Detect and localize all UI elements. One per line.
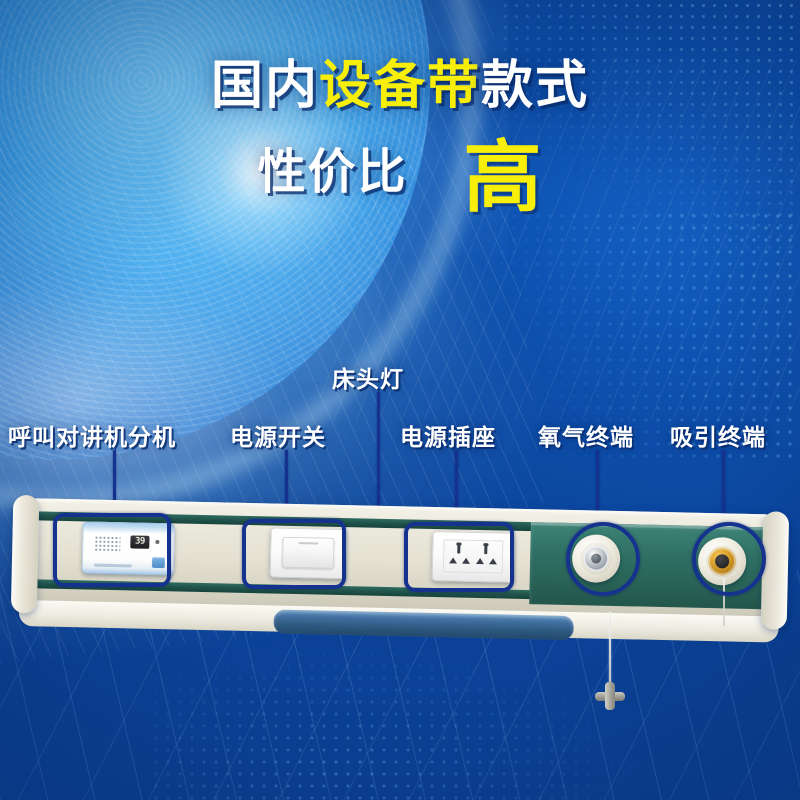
callout-label-power-switch: 电源开关	[230, 418, 326, 452]
speaker-grille-icon	[94, 536, 120, 553]
panel-rotated-group: 39	[19, 498, 781, 637]
socket-slot-icon	[457, 545, 460, 554]
intercom-call-button[interactable]	[152, 557, 165, 568]
dual-universal-socket[interactable]	[432, 531, 515, 583]
cord-weight-bar-vertical	[605, 682, 615, 710]
socket-faceplate	[443, 539, 504, 573]
callout-label-oxygen-terminal: 氧气终端	[538, 418, 634, 452]
callout-label-suction-terminal: 吸引终端	[670, 418, 766, 452]
socket-outlet-left[interactable]	[447, 542, 473, 570]
callout-layer: 床头灯 呼叫对讲机分机 电源开关 电源插座 氧气终端 吸引终端	[0, 0, 800, 800]
panel-end-cap-right	[761, 511, 790, 630]
socket-outlet-right[interactable]	[474, 543, 500, 571]
intercom-display: 39	[130, 535, 149, 548]
socket-slot-icon	[484, 545, 487, 554]
socket-pin-icon	[449, 557, 457, 563]
rocker-paddle[interactable]	[282, 537, 335, 569]
panel-end-cap-left	[11, 495, 40, 614]
pull-cord-weight[interactable]	[595, 682, 625, 710]
socket-pin-icon	[489, 558, 497, 564]
wall-rocker-switch[interactable]	[270, 527, 347, 579]
poster-stage: 国内设备带款式 性价比 高 床头灯 呼叫对讲机分机 电源开关 电源插座 氧气终端…	[0, 0, 800, 800]
status-led-icon	[155, 540, 159, 544]
suction-cord-line	[723, 578, 725, 626]
bed-head-unit-panel: 39	[20, 498, 780, 633]
intercom-label-strip	[94, 564, 132, 568]
intercom-unit[interactable]: 39	[82, 521, 175, 575]
socket-pin-icon	[462, 558, 470, 564]
callout-label-call-intercom-extension: 呼叫对讲机分机	[8, 418, 176, 452]
callout-label-bedside-lamp: 床头灯	[332, 360, 404, 394]
callout-label-power-socket: 电源插座	[400, 418, 496, 452]
socket-pin-icon	[476, 558, 484, 564]
pull-cord-line[interactable]	[609, 612, 611, 690]
